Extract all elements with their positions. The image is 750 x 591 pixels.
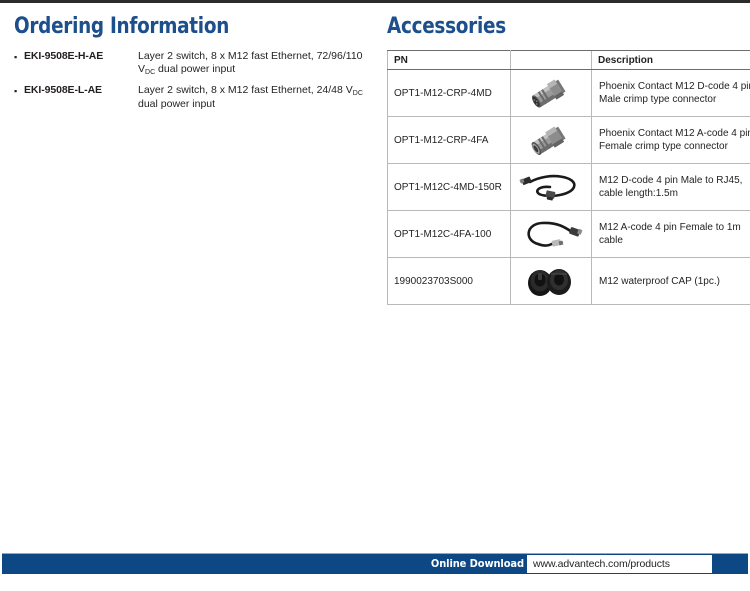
cell-description: M12 D-code 4 pin Male to RJ45, cable len… (592, 164, 750, 211)
m12-to-rj45-cable-image (511, 165, 589, 209)
cell-product-image (511, 70, 592, 117)
ordering-description-post: dual power input (138, 98, 215, 110)
m12-female-connector-icon (520, 120, 580, 160)
online-download-url[interactable]: www.advantech.com/products (527, 558, 670, 570)
accessories-table-header: PN Description (388, 51, 750, 70)
m12-waterproof-cap-icon (520, 261, 580, 301)
accessories-section: Accessories PN Description OPT1-M12-CRP-… (387, 14, 748, 305)
cell-product-image (511, 258, 592, 305)
table-header-row: PN Description (388, 51, 750, 70)
ordering-information-list: ▪ EKI-9508E-H-AE Layer 2 switch, 8 x M12… (14, 50, 374, 111)
m12-to-rj45-cable-icon (516, 167, 584, 207)
m12-male-connector-image (511, 71, 589, 115)
table-row: 1990023703S000 (388, 258, 750, 305)
m12-waterproof-cap-image (511, 259, 589, 303)
cell-description: Phoenix Contact M12 A-code 4 pin Female … (592, 117, 750, 164)
ordering-description: Layer 2 switch, 8 x M12 fast Ethernet, 2… (134, 84, 374, 111)
column-header-image (511, 51, 592, 70)
table-row: OPT1-M12C-4FA-100 M12 A-code 4 pin F (388, 211, 750, 258)
m12-female-cable-image (511, 212, 589, 256)
footer-bar: Online Download www.advantech.com/produc… (2, 553, 748, 574)
list-item: ▪ EKI-9508E-H-AE Layer 2 switch, 8 x M12… (14, 50, 374, 77)
online-download-url-box[interactable]: www.advantech.com/products (527, 555, 712, 573)
m12-male-connector-icon (520, 73, 580, 113)
cell-part-number: OPT1-M12C-4MD-150R (388, 164, 511, 211)
cell-part-number: OPT1-M12C-4FA-100 (388, 211, 511, 258)
page-top-rule (0, 0, 750, 3)
ordering-information-section: Ordering Information ▪ EKI-9508E-H-AE La… (14, 14, 374, 118)
ordering-description-pre: Layer 2 switch, 8 x M12 fast Ethernet, 2… (138, 84, 353, 96)
ordering-information-title: Ordering Information (14, 14, 349, 40)
list-item: ▪ EKI-9508E-L-AE Layer 2 switch, 8 x M12… (14, 84, 374, 111)
cell-description: M12 waterproof CAP (1pc.) (592, 258, 750, 305)
table-row: OPT1-M12-CRP-4MD (388, 70, 750, 117)
m12-female-connector-image (511, 118, 589, 162)
accessories-table-body: OPT1-M12-CRP-4MD (388, 70, 750, 305)
table-row: OPT1-M12-CRP-4FA (388, 117, 750, 164)
ordering-description: Layer 2 switch, 8 x M12 fast Ethernet, 7… (134, 50, 374, 77)
ordering-description-subscript: DC (145, 69, 155, 76)
cell-description: M12 A-code 4 pin Female to 1m cable (592, 211, 750, 258)
cell-product-image (511, 164, 592, 211)
cell-part-number: OPT1-M12-CRP-4MD (388, 70, 511, 117)
ordering-description-post: dual power input (155, 63, 235, 75)
column-header-description: Description (592, 51, 750, 70)
accessories-title: Accessories (387, 14, 723, 40)
cell-part-number: 1990023703S000 (388, 258, 511, 305)
m12-female-cable-icon (516, 214, 584, 254)
table-row: OPT1-M12C-4MD-150R M12 D-code 4 pin Male… (388, 164, 750, 211)
cell-product-image (511, 117, 592, 164)
ordering-description-subscript: DC (353, 90, 363, 97)
cell-part-number: OPT1-M12-CRP-4FA (388, 117, 511, 164)
accessories-table: PN Description OPT1-M12-CRP-4MD (387, 50, 750, 305)
bullet-icon: ▪ (14, 50, 24, 64)
ordering-part-number: EKI-9508E-L-AE (24, 84, 134, 97)
ordering-part-number: EKI-9508E-H-AE (24, 50, 134, 63)
cell-product-image (511, 211, 592, 258)
column-header-pn: PN (388, 51, 511, 70)
online-download-label: Online Download (431, 557, 524, 570)
bullet-icon: ▪ (14, 84, 24, 98)
cell-description: Phoenix Contact M12 D-code 4 pin Male cr… (592, 70, 750, 117)
